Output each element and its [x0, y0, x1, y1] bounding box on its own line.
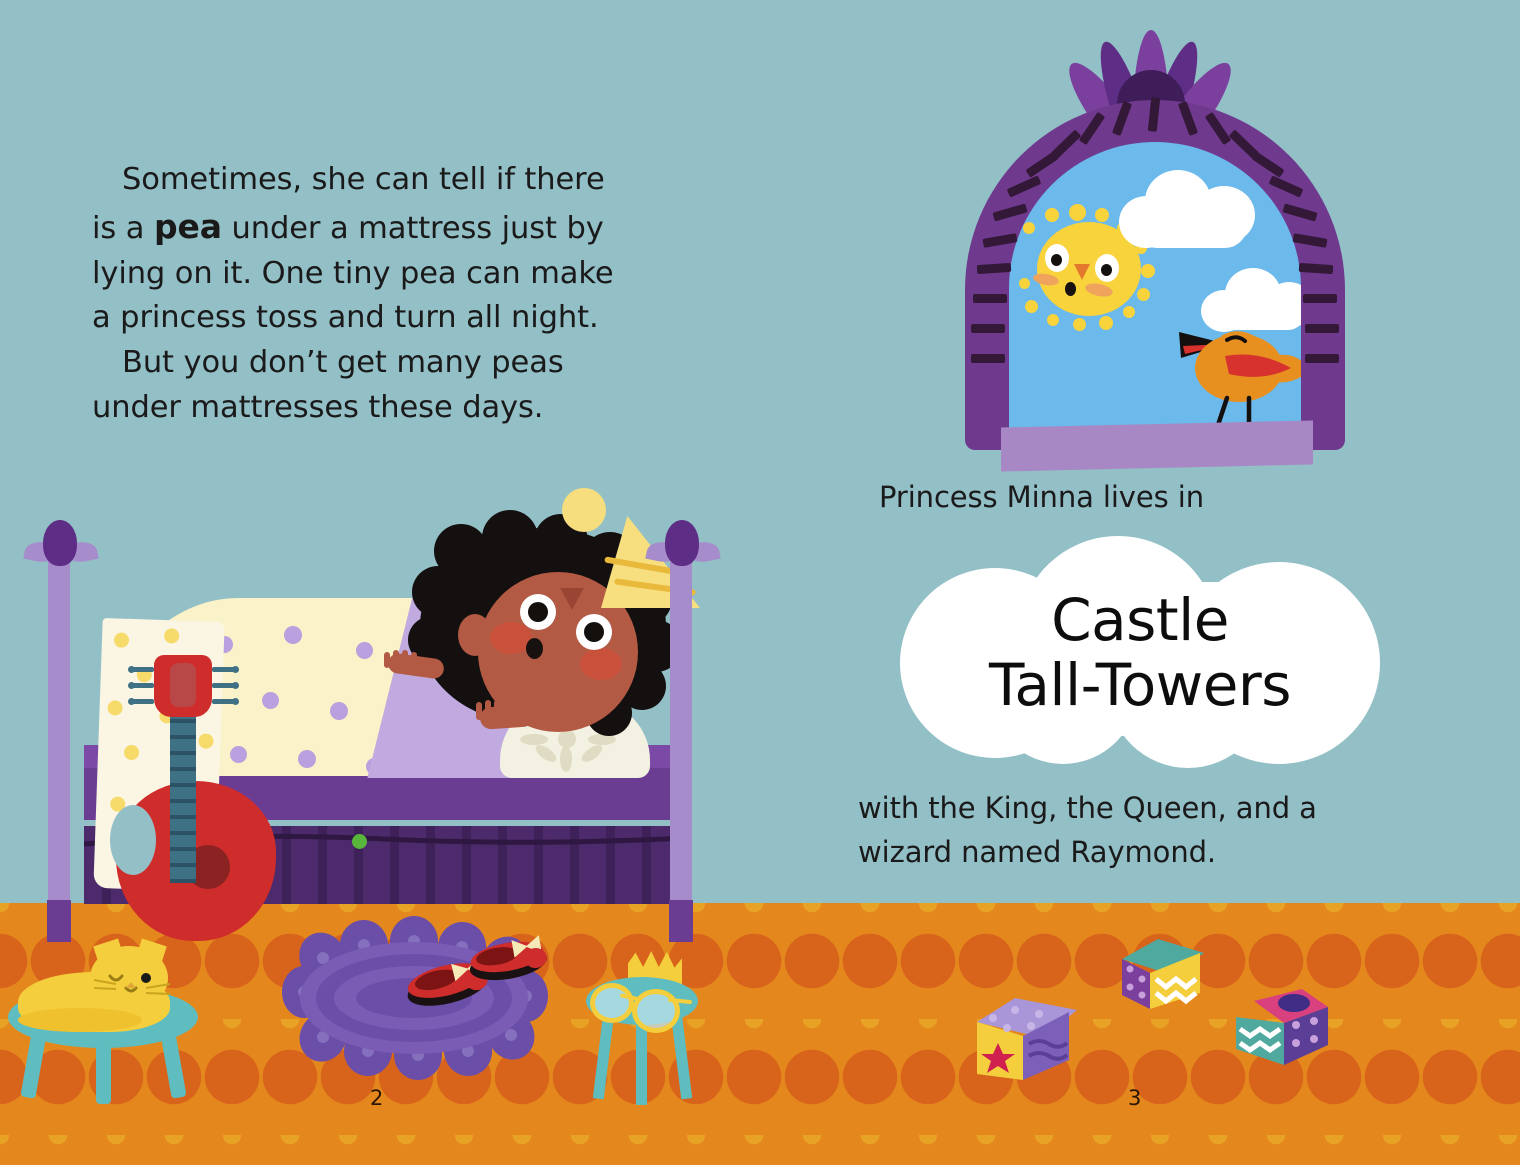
cheek — [580, 648, 622, 680]
window-sky — [1009, 142, 1301, 450]
emphasis-pea: pea — [154, 207, 222, 246]
text-line-5: But you don’t get many peas — [122, 345, 564, 380]
guitar — [104, 655, 284, 945]
text-line-2b: under a mattress just by — [222, 211, 604, 246]
text-line-4: a princess toss and turn all night. — [92, 300, 599, 335]
intro-line: Princess Minna lives in — [879, 476, 1204, 519]
toy-block — [1232, 985, 1332, 1071]
page-number-right: 3 — [1128, 1086, 1141, 1110]
outro-lines: with the King, the Queen, and a wizard n… — [858, 787, 1317, 874]
outro-line-2: wizard named Raymond. — [858, 831, 1317, 875]
toy-block — [1112, 935, 1208, 1017]
outro-line-1: with the King, the Queen, and a — [858, 787, 1317, 831]
spectacles-lens — [632, 989, 680, 1033]
flower-rug — [282, 926, 547, 1076]
page-number-left: 2 — [370, 1086, 383, 1110]
text-line-3: lying on it. One tiny pea can make — [92, 256, 614, 291]
green-pea — [352, 834, 367, 849]
nightcap-pompom — [562, 488, 606, 532]
castle-name-cloud: Castle Tall-Towers — [900, 536, 1380, 768]
window-sill — [1001, 420, 1313, 471]
toy-block — [973, 988, 1081, 1080]
bedpost-finial-right — [647, 520, 717, 584]
sun-mouth — [1065, 282, 1076, 296]
text-line-6: under mattresses these days. — [92, 390, 543, 425]
bedpost-finial-left — [25, 520, 95, 584]
spectacles-lens — [590, 983, 634, 1023]
side-table — [586, 977, 698, 1103]
castle-name-label: Castle Tall-Towers — [900, 588, 1380, 718]
text-line-1: Sometimes, she can tell if there — [122, 162, 605, 197]
sleeping-cat — [18, 946, 178, 1038]
sun-nose — [1074, 264, 1090, 280]
castle-window — [965, 24, 1345, 472]
sky-cloud — [1119, 170, 1259, 248]
cat-face — [90, 946, 172, 1012]
left-page-paragraphs: Sometimes, she can tell if there is a pe… — [92, 158, 672, 431]
bedpost-left — [48, 558, 70, 908]
text-line-2a: is a — [92, 211, 154, 246]
book-spread: Sometimes, she can tell if there is a pe… — [0, 0, 1520, 1165]
mouth — [526, 638, 543, 659]
bedpost-right — [670, 558, 692, 908]
